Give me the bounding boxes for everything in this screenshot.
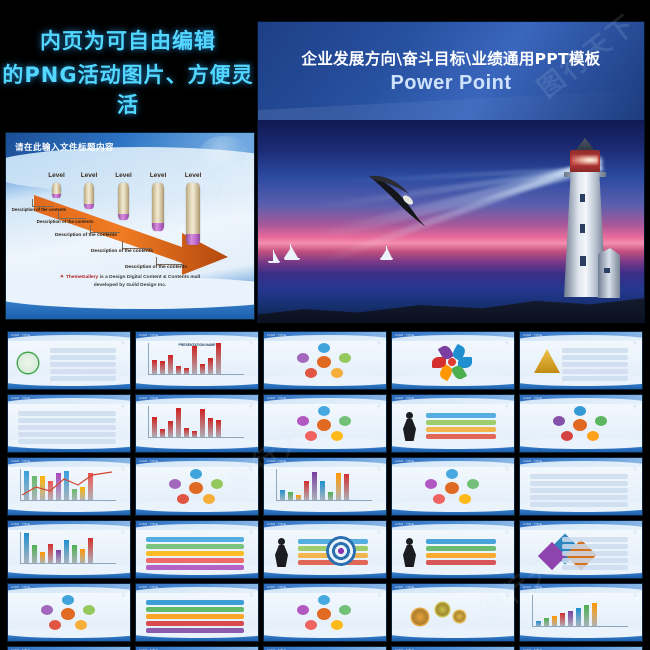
thumb-header-text: LOGO · TITLE xyxy=(523,334,542,337)
logo-icon xyxy=(120,585,126,591)
logo-icon xyxy=(504,522,510,528)
thumb-footer-band xyxy=(392,381,514,389)
thumbnail-slide-14[interactable]: LOGO · TITLE xyxy=(392,458,514,515)
thumb-header-text: LOGO · TITLE xyxy=(267,334,286,337)
screenshot-root: 内页为可自由编辑 的PNG活动图片、方便灵活 请在此输入文件标题内容 Lev xyxy=(0,0,650,650)
logo-icon xyxy=(504,333,510,339)
thumb-header-text: LOGO · TITLE xyxy=(139,460,158,463)
thumb-artwork xyxy=(520,341,642,381)
logo-icon xyxy=(632,522,638,528)
level-cylinder-2: Level xyxy=(84,183,94,209)
footer-line-2: developed by Guild Design Inc. xyxy=(6,282,254,289)
logo-icon xyxy=(120,333,126,339)
logo-icon xyxy=(248,396,254,402)
lighthouse-photo xyxy=(258,120,644,322)
level-description-5: Description of the contents xyxy=(124,265,188,271)
thumb-artwork xyxy=(392,593,514,633)
thumb-footer-band xyxy=(264,381,386,389)
thumb-artwork xyxy=(8,593,130,633)
thumbnail-slide-12[interactable]: LOGO · TITLE xyxy=(136,458,258,515)
thumbnail-slide-25[interactable]: LOGO · TITLE xyxy=(520,584,642,641)
thumb-footer-band xyxy=(136,633,258,641)
logo-icon xyxy=(376,333,382,339)
thumbnail-slide-16[interactable]: LOGO · TITLE xyxy=(8,521,130,578)
level-cylinder-3: Level xyxy=(118,183,129,220)
thumbnail-slide-17[interactable]: LOGO · TITLE xyxy=(136,521,258,578)
thumbnail-slide-6[interactable]: LOGO · TITLE xyxy=(8,395,130,452)
thumb-artwork xyxy=(136,467,258,507)
thumb-artwork xyxy=(520,530,642,570)
orange-arrow-graphic xyxy=(32,189,232,275)
thumb-footer-band xyxy=(520,633,642,641)
thumb-footer-band xyxy=(264,633,386,641)
thumb-header-text: LOGO · TITLE xyxy=(395,460,414,463)
thumb-header-text: LOGO · TITLE xyxy=(523,460,542,463)
thumb-footer-band xyxy=(8,444,130,452)
thumbnail-slide-8[interactable]: LOGO · TITLE xyxy=(264,395,386,452)
thumbnail-grid: LOGO · TITLELOGO · TITLEPRESENTATION NAM… xyxy=(0,329,650,650)
thumb-artwork xyxy=(520,467,642,507)
thumb-header-text: LOGO · TITLE xyxy=(139,523,158,526)
thumb-footer-band xyxy=(520,570,642,578)
thumb-header-text: LOGO · TITLE xyxy=(267,460,286,463)
thumb-footer-band xyxy=(136,507,258,515)
sailboat-2 xyxy=(268,250,284,266)
thumb-footer-band xyxy=(264,444,386,452)
thumbnail-slide-24[interactable]: LOGO · TITLE xyxy=(392,584,514,641)
thumb-header-text: LOGO · TITLE xyxy=(395,397,414,400)
logo-icon xyxy=(120,522,126,528)
thumb-header-text: LOGO · TITLE xyxy=(267,586,286,589)
thumb-footer-band xyxy=(520,444,642,452)
level-description-1: Description of the contents xyxy=(6,207,80,213)
level-label-1: Level xyxy=(48,172,65,179)
logo-icon xyxy=(120,459,126,465)
thumb-header-text: LOGO · TITLE xyxy=(395,586,414,589)
thumbnail-slide-4[interactable]: LOGO · TITLE xyxy=(392,332,514,389)
hero-subtitle: Power Point xyxy=(390,72,511,95)
logo-icon xyxy=(632,333,638,339)
thumb-footer-band xyxy=(392,444,514,452)
thumb-footer-band xyxy=(392,570,514,578)
thumb-artwork xyxy=(8,341,130,381)
thumbnail-slide-21[interactable]: LOGO · TITLE xyxy=(8,584,130,641)
level-label-2: Level xyxy=(81,172,98,179)
thumb-header-text: LOGO · TITLE xyxy=(11,523,30,526)
headline-line-1: 内页为可自由编辑 xyxy=(40,25,216,55)
logo-icon xyxy=(632,585,638,591)
logo-icon xyxy=(376,522,382,528)
thumbnail-slide-18[interactable]: LOGO · TITLE xyxy=(264,521,386,578)
headline-line-2: 的PNG活动图片、方便灵活 xyxy=(0,59,256,119)
thumb-footer-band xyxy=(264,570,386,578)
thumb-header-text: LOGO · TITLE xyxy=(11,334,30,337)
thumb-footer-band xyxy=(136,381,258,389)
sailboat-3 xyxy=(380,246,398,264)
thumbnail-slide-5[interactable]: LOGO · TITLE xyxy=(520,332,642,389)
thumbnail-slide-23[interactable]: LOGO · TITLE xyxy=(264,584,386,641)
thumb-artwork xyxy=(264,341,386,381)
thumb-artwork xyxy=(392,530,514,570)
footer-brand: ThemeGallery xyxy=(66,275,98,280)
thumb-footer-band xyxy=(392,507,514,515)
level-description-4: Description of the contents xyxy=(90,249,154,255)
level-label-3: Level xyxy=(115,172,132,179)
thumbnail-slide-9[interactable]: LOGO · TITLE xyxy=(392,395,514,452)
thumb-footer-band xyxy=(520,507,642,515)
level-label-5: Level xyxy=(185,172,202,179)
thumb-artwork xyxy=(8,530,130,570)
level-label-4: Level xyxy=(150,172,167,179)
thumbnail-slide-1[interactable]: LOGO · TITLE xyxy=(8,332,130,389)
thumb-header-text: LOGO · TITLE xyxy=(267,523,286,526)
logo-icon xyxy=(632,459,638,465)
thumb-footer-band xyxy=(8,507,130,515)
thumb-artwork xyxy=(392,404,514,444)
preview-slide-footer: ✦ThemeGallery is a Design Digital Conten… xyxy=(6,274,254,289)
logo-icon xyxy=(504,585,510,591)
thumb-artwork xyxy=(264,467,386,507)
level-cylinder-1: Level xyxy=(52,183,61,198)
thumb-footer-band xyxy=(8,381,130,389)
thumb-footer-band xyxy=(520,381,642,389)
preview-slide-title: 请在此输入文件标题内容 xyxy=(15,141,114,153)
logo-icon xyxy=(248,522,254,528)
logo-icon xyxy=(376,459,382,465)
logo-icon xyxy=(248,459,254,465)
thumb-footer-band xyxy=(392,633,514,641)
thumb-header-text: LOGO · TITLE xyxy=(11,460,30,463)
logo-icon xyxy=(504,396,510,402)
thumbnail-slide-19[interactable]: LOGO · TITLE xyxy=(392,521,514,578)
thumb-artwork xyxy=(136,530,258,570)
thumb-header-text: LOGO · TITLE xyxy=(139,586,158,589)
thumb-artwork xyxy=(136,593,258,633)
thumbnail-slide-7[interactable]: LOGO · TITLE xyxy=(136,395,258,452)
thumb-artwork xyxy=(8,467,130,507)
logo-icon xyxy=(376,585,382,591)
thumb-header-text: LOGO · TITLE xyxy=(139,334,158,337)
sailboat-1 xyxy=(284,244,306,264)
hero-panel[interactable]: 企业发展方向\奋斗目标\业绩通用PPT模板 Power Point xyxy=(258,22,644,322)
preview-slide[interactable]: 请在此输入文件标题内容 Level Level xyxy=(6,133,254,319)
thumb-header-text: LOGO · TITLE xyxy=(523,586,542,589)
thumbnail-slide-2[interactable]: LOGO · TITLEPRESENTATION NAME xyxy=(136,332,258,389)
thumb-header-text: LOGO · TITLE xyxy=(523,397,542,400)
thumbnail-slide-20[interactable]: LOGO · TITLE xyxy=(520,521,642,578)
logo-icon xyxy=(632,396,638,402)
level-description-2: Description of the contents xyxy=(22,219,108,225)
headline-block: 内页为可自由编辑 的PNG活动图片、方便灵活 xyxy=(0,22,256,122)
header-banner: 内页为可自由编辑 的PNG活动图片、方便灵活 请在此输入文件标题内容 Lev xyxy=(0,0,650,325)
thumb-footer-band xyxy=(136,444,258,452)
globe-icon xyxy=(200,136,248,166)
thumbnail-slide-22[interactable]: LOGO · TITLE xyxy=(136,584,258,641)
level-description-3: Description of the contents xyxy=(54,233,118,239)
logo-icon xyxy=(376,396,382,402)
thumb-artwork xyxy=(8,404,130,444)
bird-silhouette-icon xyxy=(363,170,453,230)
diamond-bullet-icon: ✦ xyxy=(60,275,64,280)
thumb-artwork xyxy=(520,593,642,633)
thumb-footer-band xyxy=(8,570,130,578)
hero-title: 企业发展方向\奋斗目标\业绩通用PPT模板 xyxy=(302,47,601,69)
logo-icon xyxy=(120,396,126,402)
logo-icon xyxy=(248,333,254,339)
thumb-header-text: LOGO · TITLE xyxy=(11,586,30,589)
thumb-header-text: LOGO · TITLE xyxy=(267,397,286,400)
thumbnail-slide-3[interactable]: LOGO · TITLE xyxy=(264,332,386,389)
thumb-header-text: LOGO · TITLE xyxy=(395,523,414,526)
thumb-artwork xyxy=(392,341,514,381)
thumb-artwork xyxy=(520,404,642,444)
thumb-artwork xyxy=(264,530,386,570)
thumb-artwork xyxy=(136,341,258,381)
thumb-header-text: LOGO · TITLE xyxy=(395,334,414,337)
thumb-footer-band xyxy=(264,507,386,515)
thumb-header-text: LOGO · TITLE xyxy=(139,397,158,400)
thumb-header-text: LOGO · TITLE xyxy=(523,523,542,526)
logo-icon xyxy=(504,459,510,465)
hero-title-bar: 企业发展方向\奋斗目标\业绩通用PPT模板 Power Point xyxy=(258,22,644,120)
lighthouse-icon xyxy=(552,128,618,308)
thumbnail-slide-10[interactable]: LOGO · TITLE xyxy=(520,395,642,452)
thumb-header-text: LOGO · TITLE xyxy=(11,397,30,400)
thumb-artwork xyxy=(392,467,514,507)
thumb-artwork xyxy=(136,404,258,444)
preview-slide-footer-band xyxy=(6,293,254,319)
thumb-artwork xyxy=(264,593,386,633)
level-cylinder-4: Level xyxy=(152,183,164,231)
thumbnail-slide-13[interactable]: LOGO · TITLE xyxy=(264,458,386,515)
thumb-footer-band xyxy=(136,570,258,578)
logo-icon xyxy=(248,585,254,591)
thumbnail-slide-11[interactable]: LOGO · TITLE xyxy=(8,458,130,515)
thumb-footer-band xyxy=(8,633,130,641)
thumbnail-slide-15[interactable]: LOGO · TITLE xyxy=(520,458,642,515)
footer-line-1: is a Design Digital Content & Contents m… xyxy=(98,275,200,280)
thumb-artwork xyxy=(264,404,386,444)
level-cylinder-5: Level xyxy=(186,183,200,245)
